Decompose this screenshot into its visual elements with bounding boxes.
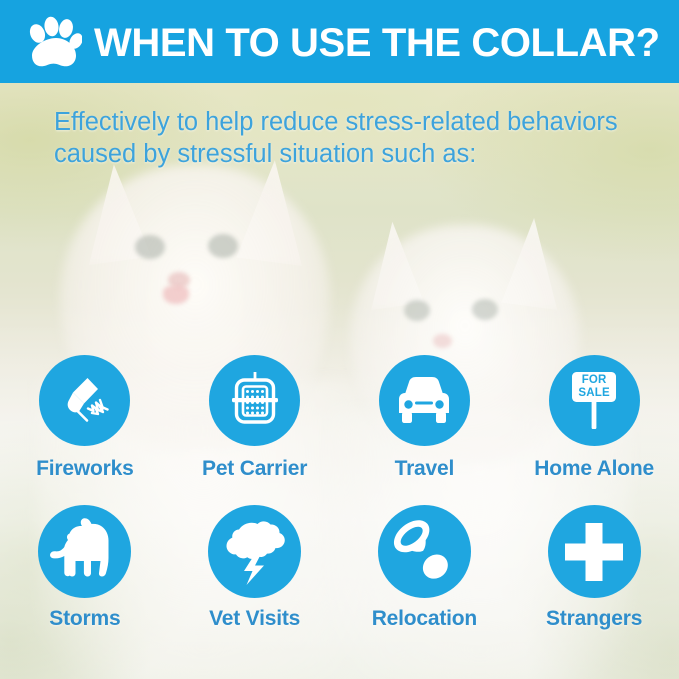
subtitle: Effectively to help reduce stress-relate…	[54, 106, 654, 171]
medical-cross-icon	[562, 520, 626, 584]
grid-item-label: Travel	[395, 457, 455, 481]
promo-infographic: WHEN TO USE THE COLLAR? Effectively to h…	[0, 0, 679, 679]
grid-item-home-alone[interactable]: FOR SALE Home Alone	[509, 355, 679, 505]
icon-circle	[548, 505, 641, 598]
icon-circle	[38, 505, 131, 598]
grid-item-label: Pet Carrier	[202, 457, 307, 481]
kitten-right-nose	[433, 334, 452, 348]
grid-item-label: Vet Visits	[209, 607, 300, 631]
grid-item-storms[interactable]: Storms	[0, 505, 170, 650]
car-icon	[391, 372, 457, 430]
grid-item-fireworks[interactable]: Fireworks	[0, 355, 170, 505]
icon-circle: FOR SALE	[549, 355, 640, 446]
pet-carrier-icon	[223, 369, 287, 433]
grid-item-travel[interactable]: Travel	[340, 355, 510, 505]
icon-circle	[39, 355, 130, 446]
kitten-left-eye-left	[135, 235, 165, 259]
storm-cloud-lightning-icon	[218, 515, 292, 589]
kitten-left-eye-right	[208, 234, 238, 258]
icon-row-1: Fireworks	[0, 355, 679, 505]
dog-and-cat-icon	[45, 512, 125, 592]
for-sale-sign-text: FOR SALE	[549, 374, 640, 400]
trigger-icon-grid: Fireworks	[0, 355, 679, 650]
subtitle-line-2: caused by stressful situation such as:	[54, 138, 654, 170]
header-bar: WHEN TO USE THE COLLAR?	[0, 0, 679, 83]
subtitle-line-1: Effectively to help reduce stress-relate…	[54, 106, 654, 138]
page-title: WHEN TO USE THE COLLAR?	[94, 23, 660, 63]
kitten-right-eye-right	[472, 299, 498, 320]
sign-line-1: FOR	[549, 374, 640, 387]
firework-rocket-icon	[54, 370, 116, 432]
grid-item-label: Strangers	[546, 607, 642, 631]
kitten-right-eye-left	[404, 300, 430, 321]
grid-item-label: Home Alone	[534, 457, 654, 481]
icon-circle	[379, 355, 470, 446]
grid-item-vet-visits[interactable]: Vet Visits	[170, 505, 340, 650]
icon-circle	[209, 355, 300, 446]
icon-circle	[378, 505, 471, 598]
pacifier-icon	[387, 515, 461, 589]
kitten-left-tongue	[163, 286, 189, 304]
grid-item-label: Storms	[49, 607, 120, 631]
paw-icon	[26, 16, 82, 68]
icon-row-2: Storms Vet Visits	[0, 505, 679, 650]
grid-item-label: Relocation	[372, 607, 477, 631]
grid-item-relocation[interactable]: Relocation	[340, 505, 510, 650]
sign-line-2: SALE	[549, 387, 640, 400]
grid-item-pet-carrier[interactable]: Pet Carrier	[170, 355, 340, 505]
grid-item-label: Fireworks	[36, 457, 133, 481]
icon-circle	[208, 505, 301, 598]
grid-item-strangers[interactable]: Strangers	[509, 505, 679, 650]
